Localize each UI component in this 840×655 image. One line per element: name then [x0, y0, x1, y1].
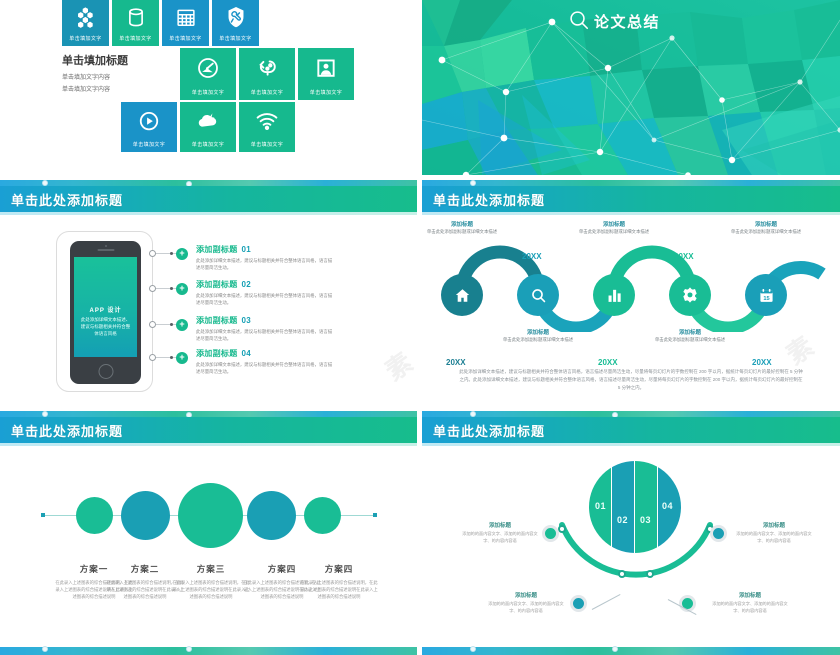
segment-number: 01 [595, 501, 606, 511]
wave-caption-title: 添加标题 [422, 220, 516, 228]
slide-title-bar: 单击此处添加标题 [0, 186, 417, 212]
tile-caption: 单击填加文字 [251, 141, 283, 148]
feature-body: 此处添加详细文本描述，建议与标题相关并符合整体语言风格，语言描述尽量简洁生动。 [196, 328, 336, 342]
feature-body: 此处添加详细文本描述，建议与标题相关并符合整体语言风格，语言描述尽量简洁生动。 [196, 361, 336, 375]
hero-title: 论文总结 [594, 11, 660, 32]
arc-connector [552, 519, 720, 585]
slide-bubble-scale[interactable]: 单击此处添加标题 方案一 在此录入上述图表的综合描述说明，在此录入上述图表的综合… [0, 411, 417, 655]
callout-right-bottom: 添加标题 添加的的面内容文字、添加的的面内容文字、的内容内容语 [710, 591, 790, 614]
tile-caption: 单击填加文字 [192, 141, 224, 148]
axis-end-marker [41, 513, 45, 517]
bubble-label-group: 方案三 在此录入上述图表的综合描述说明，在此录入上述图表的综合描述说明在此录入上… [172, 563, 250, 601]
phone-mockup: APP 设计 此处添加详细文本描述、建议与标题相关并符合整体语言风格 [56, 231, 153, 392]
slide-app-features[interactable]: 单击此处添加标题 APP 设计 此处添加详细文本描述、建议与标题相关并符合整体语… [0, 180, 417, 406]
tile-cube-3d[interactable]: 单击填加文字 [62, 0, 109, 46]
connector-dot [170, 356, 173, 359]
bubble-label: 方案三 [172, 563, 250, 575]
wave-caption-body: 单击此处添加副标题或详细文本描述 [422, 229, 516, 236]
wave-caption: 添加标题 单击此处添加副标题或详细文本描述 [712, 220, 820, 236]
watermark: 素 [778, 327, 821, 372]
tile-caption: 单击填加文字 [69, 35, 101, 42]
connector-node [149, 321, 156, 328]
bottom-accent-strip [0, 647, 417, 655]
wave-year: 20XX [752, 358, 772, 367]
add-item-button[interactable]: + [176, 352, 188, 364]
calendar-icon: 15 [758, 287, 775, 304]
home-icon [454, 287, 471, 304]
tile-user-photo[interactable]: 单击填加文字 [298, 48, 354, 100]
wave-caption-title: 添加标题 [484, 328, 592, 336]
wave-caption: 添加标题 单击此处添加副标题或详细文本描述 [484, 328, 592, 344]
phone-home-button[interactable] [98, 364, 113, 379]
search-icon [530, 287, 547, 304]
axis-end-marker [373, 513, 377, 517]
slide-deck-grid: 单击填加文字 单击填加文字 单击填加文字 [0, 0, 840, 655]
cube-3d-icon [75, 6, 97, 33]
tile-calendar-grid[interactable]: 单击填加文字 [162, 0, 209, 46]
callout-title: 添加标题 [486, 591, 566, 599]
magnifier-icon [568, 9, 590, 36]
feature-title: 添加副标题01 [196, 244, 336, 255]
bubble-1[interactable] [76, 497, 113, 534]
wave-caption: 添加标题 单击此处添加副标题或详细文本描述 [636, 328, 744, 344]
segment-number: 04 [662, 501, 673, 511]
app-screen-body: 此处添加详细文本描述、建议与标题相关并符合整体语言风格 [79, 317, 132, 338]
wave-node-calendar[interactable]: 15 [745, 274, 787, 316]
tile-cloud-bolt[interactable]: 单击填加文字 [180, 102, 236, 152]
tile-caption: 单击填加文字 [119, 35, 151, 42]
callout-body: 添加的的面内容文字、添加的的面内容文字、的内容内容语 [734, 531, 814, 544]
callout-bullet[interactable] [542, 525, 559, 542]
bubble-4[interactable] [247, 491, 296, 540]
slide-segmented-circle[interactable]: 单击此处添加标题 01 02 03 04 [422, 411, 840, 655]
callout-bullet[interactable] [710, 525, 727, 542]
callout-body: 添加的的面内容文字、添加的的面内容文字、的内容内容语 [710, 601, 790, 614]
feature-item: 添加副标题03 此处添加详细文本描述，建议与标题相关并符合整体语言风格，语言描述… [196, 315, 336, 342]
wave-year: 20XX [446, 358, 466, 367]
add-item-button[interactable]: + [176, 248, 188, 260]
wave-caption-body: 单击此处添加副标题或详细文本描述 [560, 229, 668, 236]
callout-lead-line [592, 594, 621, 610]
wave-caption: 添加标题 单击此处添加副标题或详细文本描述 [560, 220, 668, 236]
callout-title: 添加标题 [710, 591, 790, 599]
callout-bullet[interactable] [570, 595, 587, 612]
wave-year: 20XX [522, 252, 542, 261]
slide-title: 单击此处添加标题 [433, 190, 545, 209]
bubble-label-group: 方案四 在此录入上述图表的综合描述说明，在此录入上述图表的综合描述说明在此录入上… [300, 563, 378, 601]
tile-tools[interactable]: 单击填加文字 [212, 0, 259, 46]
feature-item: 添加副标题01 此处添加详细文本描述，建议与标题相关并符合整体语言风格，语言描述… [196, 244, 336, 271]
connector-line [156, 357, 178, 358]
gear-icon [681, 286, 699, 304]
tile-caption: 单击填加文字 [219, 35, 251, 42]
wave-node-search[interactable] [517, 274, 559, 316]
arc-knob[interactable] [646, 570, 654, 578]
calendar-grid-icon [175, 7, 196, 33]
feature-body: 此处添加详细文本描述，建议与标题相关并符合整体语言风格，语言描述尽量简洁生动。 [196, 292, 336, 306]
strip-dot [612, 646, 618, 652]
callout-title: 添加标题 [734, 521, 814, 529]
connector-dot [170, 287, 173, 290]
tiles-line-1: 单击填加文字内容 [62, 72, 110, 81]
slide-title: 单击此处添加标题 [11, 190, 123, 209]
tile-database[interactable]: 单击填加文字 [112, 0, 159, 46]
feature-item: 添加副标题04 此处添加详细文本描述，建议与标题相关并符合整体语言风格，语言描述… [196, 348, 336, 375]
bubble-2[interactable] [121, 491, 170, 540]
slide-tile-grid[interactable]: 单击填加文字 单击填加文字 单击填加文字 [0, 0, 417, 175]
strip-dot [470, 646, 476, 652]
wave-year: 20XX [674, 252, 694, 261]
slide-title-bar: 单击此处添加标题 [0, 417, 417, 443]
bubble-body: 在此录入上述图表的综合描述说明，在此录入上述图表的综合描述说明在此录入上述图表的… [300, 580, 378, 601]
callout-body: 添加的的面内容文字、添加的的面内容文字、的内容内容语 [486, 601, 566, 614]
link-icon [255, 56, 279, 85]
phone-speaker-icon [97, 249, 114, 251]
slide-title-bar: 单击此处添加标题 [422, 186, 840, 212]
arc-knob[interactable] [618, 570, 626, 578]
app-screen-title: APP 设计 [74, 305, 137, 314]
slide-title: 单击此处添加标题 [433, 421, 545, 440]
bubble-body: 在此录入上述图表的综合描述说明，在此录入上述图表的综合描述说明在此录入上述图表的… [172, 580, 250, 601]
wifi-icon [255, 109, 279, 138]
slide-title: 单击此处添加标题 [11, 421, 123, 440]
tile-caption: 单击填加文字 [133, 141, 165, 148]
wave-caption: 添加标题 单击此处添加副标题或详细文本描述 [422, 220, 516, 236]
tools-icon [224, 6, 247, 34]
play-icon [138, 110, 161, 138]
phone-body: APP 设计 此处添加详细文本描述、建议与标题相关并符合整体语言风格 [70, 241, 141, 384]
wave-node-gear[interactable] [669, 274, 711, 316]
strip-dot [42, 646, 48, 652]
feature-body: 此处添加详细文本描述，建议与标题相关并符合整体语言风格，语言描述尽量简洁生动。 [196, 257, 336, 271]
database-icon [125, 7, 146, 33]
bar-chart-icon [606, 287, 623, 304]
wave-year: 20XX [598, 358, 618, 367]
callout-left-bottom: 添加标题 添加的的面内容文字、添加的的面内容文字、的内容内容语 [486, 591, 566, 614]
bubble-label: 方案四 [300, 563, 378, 575]
svg-text:15: 15 [763, 296, 769, 302]
connector-line [156, 253, 178, 254]
wave-caption-title: 添加标题 [636, 328, 744, 336]
tile-wifi[interactable]: 单击填加文字 [239, 102, 295, 152]
callout-title: 添加标题 [460, 521, 540, 529]
bottom-accent-strip [422, 647, 840, 655]
tile-caption: 单击填加文字 [169, 35, 201, 42]
wave-caption-body: 单击此处添加副标题或详细文本描述 [712, 229, 820, 236]
slide-title-bar: 单击此处添加标题 [422, 417, 840, 443]
connector-line [156, 288, 178, 289]
tile-play[interactable]: 单击填加文字 [121, 102, 177, 152]
feature-title: 添加副标题02 [196, 279, 336, 290]
bubble-5[interactable] [304, 497, 341, 534]
connector-node [149, 285, 156, 292]
callout-left-top: 添加标题 添加的的面内容文字、添加的的面内容文字、的内容内容语 [460, 521, 540, 544]
add-item-button[interactable]: + [176, 319, 188, 331]
tile-caption: 单击填加文字 [251, 89, 283, 96]
tile-gauge[interactable]: 单击填加文字 [180, 48, 236, 100]
slide-hero-cover[interactable]: 论文总结 [422, 0, 840, 175]
arc-knob[interactable] [558, 525, 566, 533]
connector-node [149, 250, 156, 257]
strip-dot [186, 646, 192, 652]
cloud-bolt-icon [196, 109, 220, 138]
slide-wave-timeline[interactable]: 单击此处添加标题 15 20XX 20XX 20XX [422, 180, 840, 406]
add-item-button[interactable]: + [176, 283, 188, 295]
bubble-3[interactable] [178, 483, 243, 548]
callout-body: 添加的的面内容文字、添加的的面内容文字、的内容内容语 [460, 531, 540, 544]
phone-screen: APP 设计 此处添加详细文本描述、建议与标题相关并符合整体语言风格 [74, 257, 137, 357]
feature-title: 添加副标题03 [196, 315, 336, 326]
wave-caption-title: 添加标题 [712, 220, 820, 228]
wave-footer-text: 此处添加详细文本描述，建议与标题相关并符合整体语言风格，语言描述尽量简洁生动，尽… [458, 368, 804, 392]
tiles-line-2: 单击填加文字内容 [62, 84, 110, 93]
feature-title: 添加副标题04 [196, 348, 336, 359]
connector-line [156, 324, 178, 325]
tile-caption: 单击填加文字 [192, 89, 224, 96]
feature-item: 添加副标题02 此处添加详细文本描述，建议与标题相关并符合整体语言风格，语言描述… [196, 279, 336, 306]
callout-right-top: 添加标题 添加的的面内容文字、添加的的面内容文字、的内容内容语 [734, 521, 814, 544]
watermark: 素 [377, 343, 417, 388]
tiles-heading: 单击填加标题 [62, 52, 128, 68]
user-photo-icon [315, 57, 338, 85]
wave-caption-body: 单击此处添加副标题或详细文本描述 [484, 337, 592, 344]
wave-node-home[interactable] [441, 274, 483, 316]
wave-caption-title: 添加标题 [560, 220, 668, 228]
wave-node-chart[interactable] [593, 274, 635, 316]
connector-dot [170, 323, 173, 326]
gauge-icon [196, 56, 220, 85]
wave-caption-body: 单击此处添加副标题或详细文本描述 [636, 337, 744, 344]
phone-camera-icon [105, 245, 107, 247]
connector-dot [170, 252, 173, 255]
tile-link[interactable]: 单击填加文字 [239, 48, 295, 100]
tile-caption: 单击填加文字 [310, 89, 342, 96]
connector-node [149, 354, 156, 361]
